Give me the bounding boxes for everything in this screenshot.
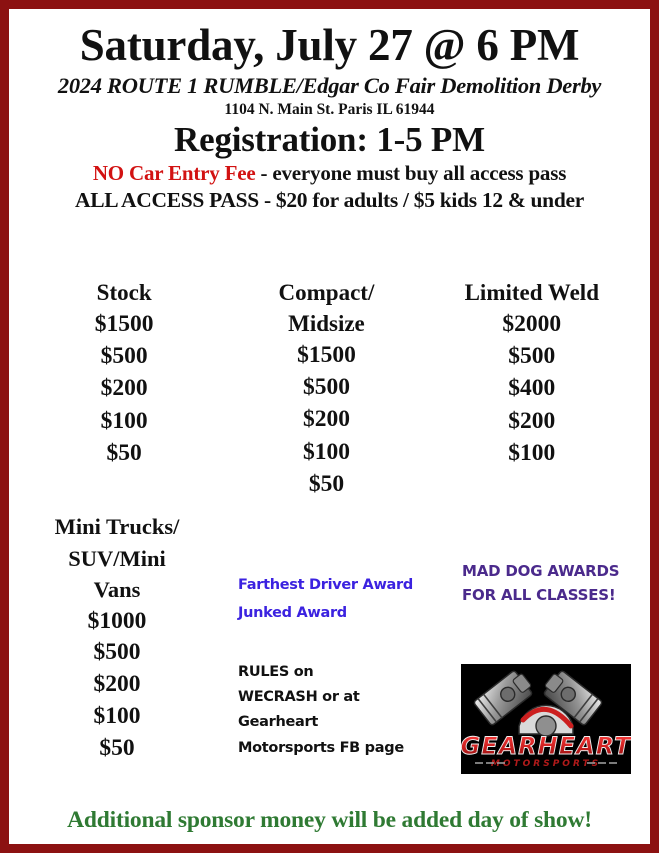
flyer-content: Saturday, July 27 @ 6 PM 2024 ROUTE 1 RU… [9,9,650,844]
prize-class-stock: Stock $1500 $500 $200 $100 $50 [23,277,225,500]
prize-columns-top-row: Stock $1500 $500 $200 $100 $50 Compact/ … [23,277,636,500]
gearheart-motorsports-logo: GEARHEART MOTORSPORTS [461,664,631,774]
prize-class-heading: Mini Trucks/ [27,511,207,543]
prize-class-heading-line2: SUV/Mini [27,543,207,575]
rules-line: WECRASH or at [238,685,453,710]
venue-address: 1104 N. Main St. Paris IL 61944 [23,101,636,120]
prize-class-limited-weld: Limited Weld $2000 $500 $400 $200 $100 [428,277,636,500]
prize-class-mini-trucks: Mini Trucks/ SUV/Mini Vans $1000 $500 $2… [27,511,207,765]
event-date-heading: Saturday, July 27 @ 6 PM [23,23,636,69]
prize-payout: $1500 [225,339,427,371]
sponsor-money-note: Additional sponsor money will be added d… [23,806,636,834]
prize-payout: $400 [428,372,636,404]
entry-fee-rest: - everyone must buy all access pass [255,161,566,185]
prize-class-heading: Limited Weld [428,277,636,308]
entry-fee-note: NO Car Entry Fee - everyone must buy all… [23,161,636,186]
prize-payout: $200 [27,669,207,701]
no-entry-fee-highlight: NO Car Entry Fee [93,161,256,185]
rules-line: Motorsports FB page [238,736,453,761]
gearheart-logo-graphic: GEARHEART MOTORSPORTS [461,664,631,774]
prize-payout: $500 [225,371,427,403]
prize-payout: $200 [23,372,225,404]
prize-payout: $500 [27,637,207,669]
prize-class-heading-line2: Midsize [225,308,427,339]
prize-payout: $2000 [428,308,636,340]
registration-time: Registration: 1-5 PM [23,122,636,159]
prize-payout: $200 [225,403,427,435]
prize-class-heading-line3: Vans [27,574,207,606]
mad-dog-line: FOR ALL CLASSES! [462,583,652,607]
prize-payout: $500 [23,340,225,372]
prize-payout: $1500 [23,308,225,340]
prize-payout: $500 [428,340,636,372]
rules-line: Gearheart [238,710,453,735]
mad-dog-awards-note: MAD DOG AWARDS FOR ALL CLASSES! [462,559,652,608]
prize-class-heading: Compact/ [225,277,427,308]
prize-payout: $1000 [27,606,207,638]
special-awards-list: Farthest Driver Award Junked Award [238,571,448,628]
prize-payout: $100 [27,701,207,733]
prize-payout: $50 [27,733,207,765]
prize-class-heading: Stock [23,277,225,308]
prize-payout: $100 [23,405,225,437]
award-farthest-driver: Farthest Driver Award [238,571,448,599]
prize-payout: $50 [225,468,427,500]
prize-payout: $100 [225,436,427,468]
prize-class-compact-midsize: Compact/ Midsize $1500 $500 $200 $100 $5… [225,277,427,500]
rules-info: RULES on WECRASH or at Gearheart Motorsp… [238,660,453,761]
prize-payout: $200 [428,405,636,437]
logo-wordmark: GEARHEART [461,732,631,760]
prize-payout: $50 [23,437,225,469]
award-junked: Junked Award [238,599,448,627]
all-access-pass-pricing: ALL ACCESS PASS - $20 for adults / $5 ki… [23,188,636,214]
rules-line: RULES on [238,660,453,685]
derby-flyer: Saturday, July 27 @ 6 PM 2024 ROUTE 1 RU… [0,0,659,853]
event-name-subheading: 2024 ROUTE 1 RUMBLE/Edgar Co Fair Demoli… [23,73,636,99]
logo-subtext: MOTORSPORTS [491,759,601,769]
mad-dog-line: MAD DOG AWARDS [462,559,652,583]
prize-payout: $100 [428,437,636,469]
